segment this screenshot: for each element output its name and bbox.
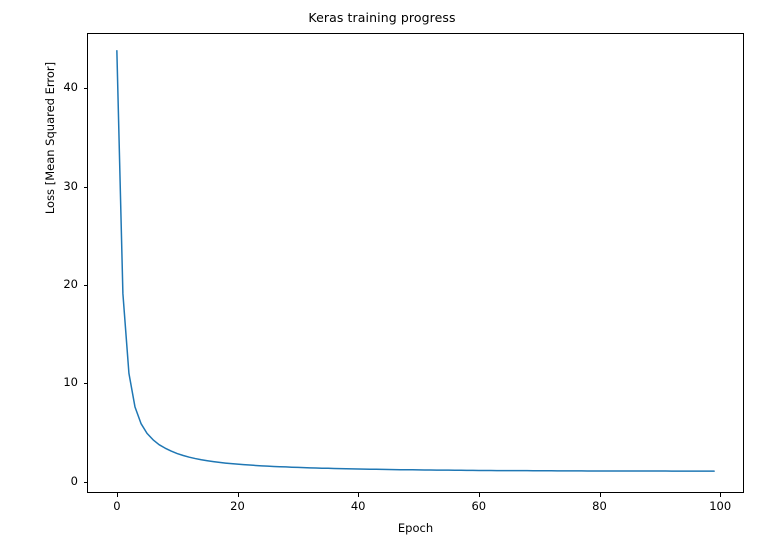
y-tick-mark xyxy=(84,482,88,483)
x-tick-label: 0 xyxy=(97,499,137,513)
y-tick-mark xyxy=(84,285,88,286)
x-tick-label: 20 xyxy=(218,499,258,513)
x-tick-label: 60 xyxy=(459,499,499,513)
loss-curve xyxy=(87,33,744,493)
x-tick-mark xyxy=(358,493,359,497)
y-tick-label: 10 xyxy=(38,375,78,389)
x-tick-mark xyxy=(238,493,239,497)
x-axis-label: Epoch xyxy=(87,521,744,535)
x-tick-label: 100 xyxy=(700,499,740,513)
chart-title: Keras training progress xyxy=(0,10,764,25)
x-tick-mark xyxy=(479,493,480,497)
matplotlib-figure: Keras training progress 020406080100 010… xyxy=(0,0,764,547)
plot-area xyxy=(87,33,744,493)
x-tick-mark xyxy=(117,493,118,497)
x-tick-label: 40 xyxy=(338,499,378,513)
y-tick-mark xyxy=(84,383,88,384)
x-tick-mark xyxy=(600,493,601,497)
y-tick-mark xyxy=(84,88,88,89)
x-tick-label: 80 xyxy=(580,499,620,513)
loss-line-path xyxy=(117,51,714,471)
y-tick-label: 20 xyxy=(38,277,78,291)
y-axis-label: Loss [Mean Squared Error] xyxy=(43,8,57,268)
x-tick-mark xyxy=(720,493,721,497)
y-tick-mark xyxy=(84,187,88,188)
y-tick-label: 0 xyxy=(38,474,78,488)
